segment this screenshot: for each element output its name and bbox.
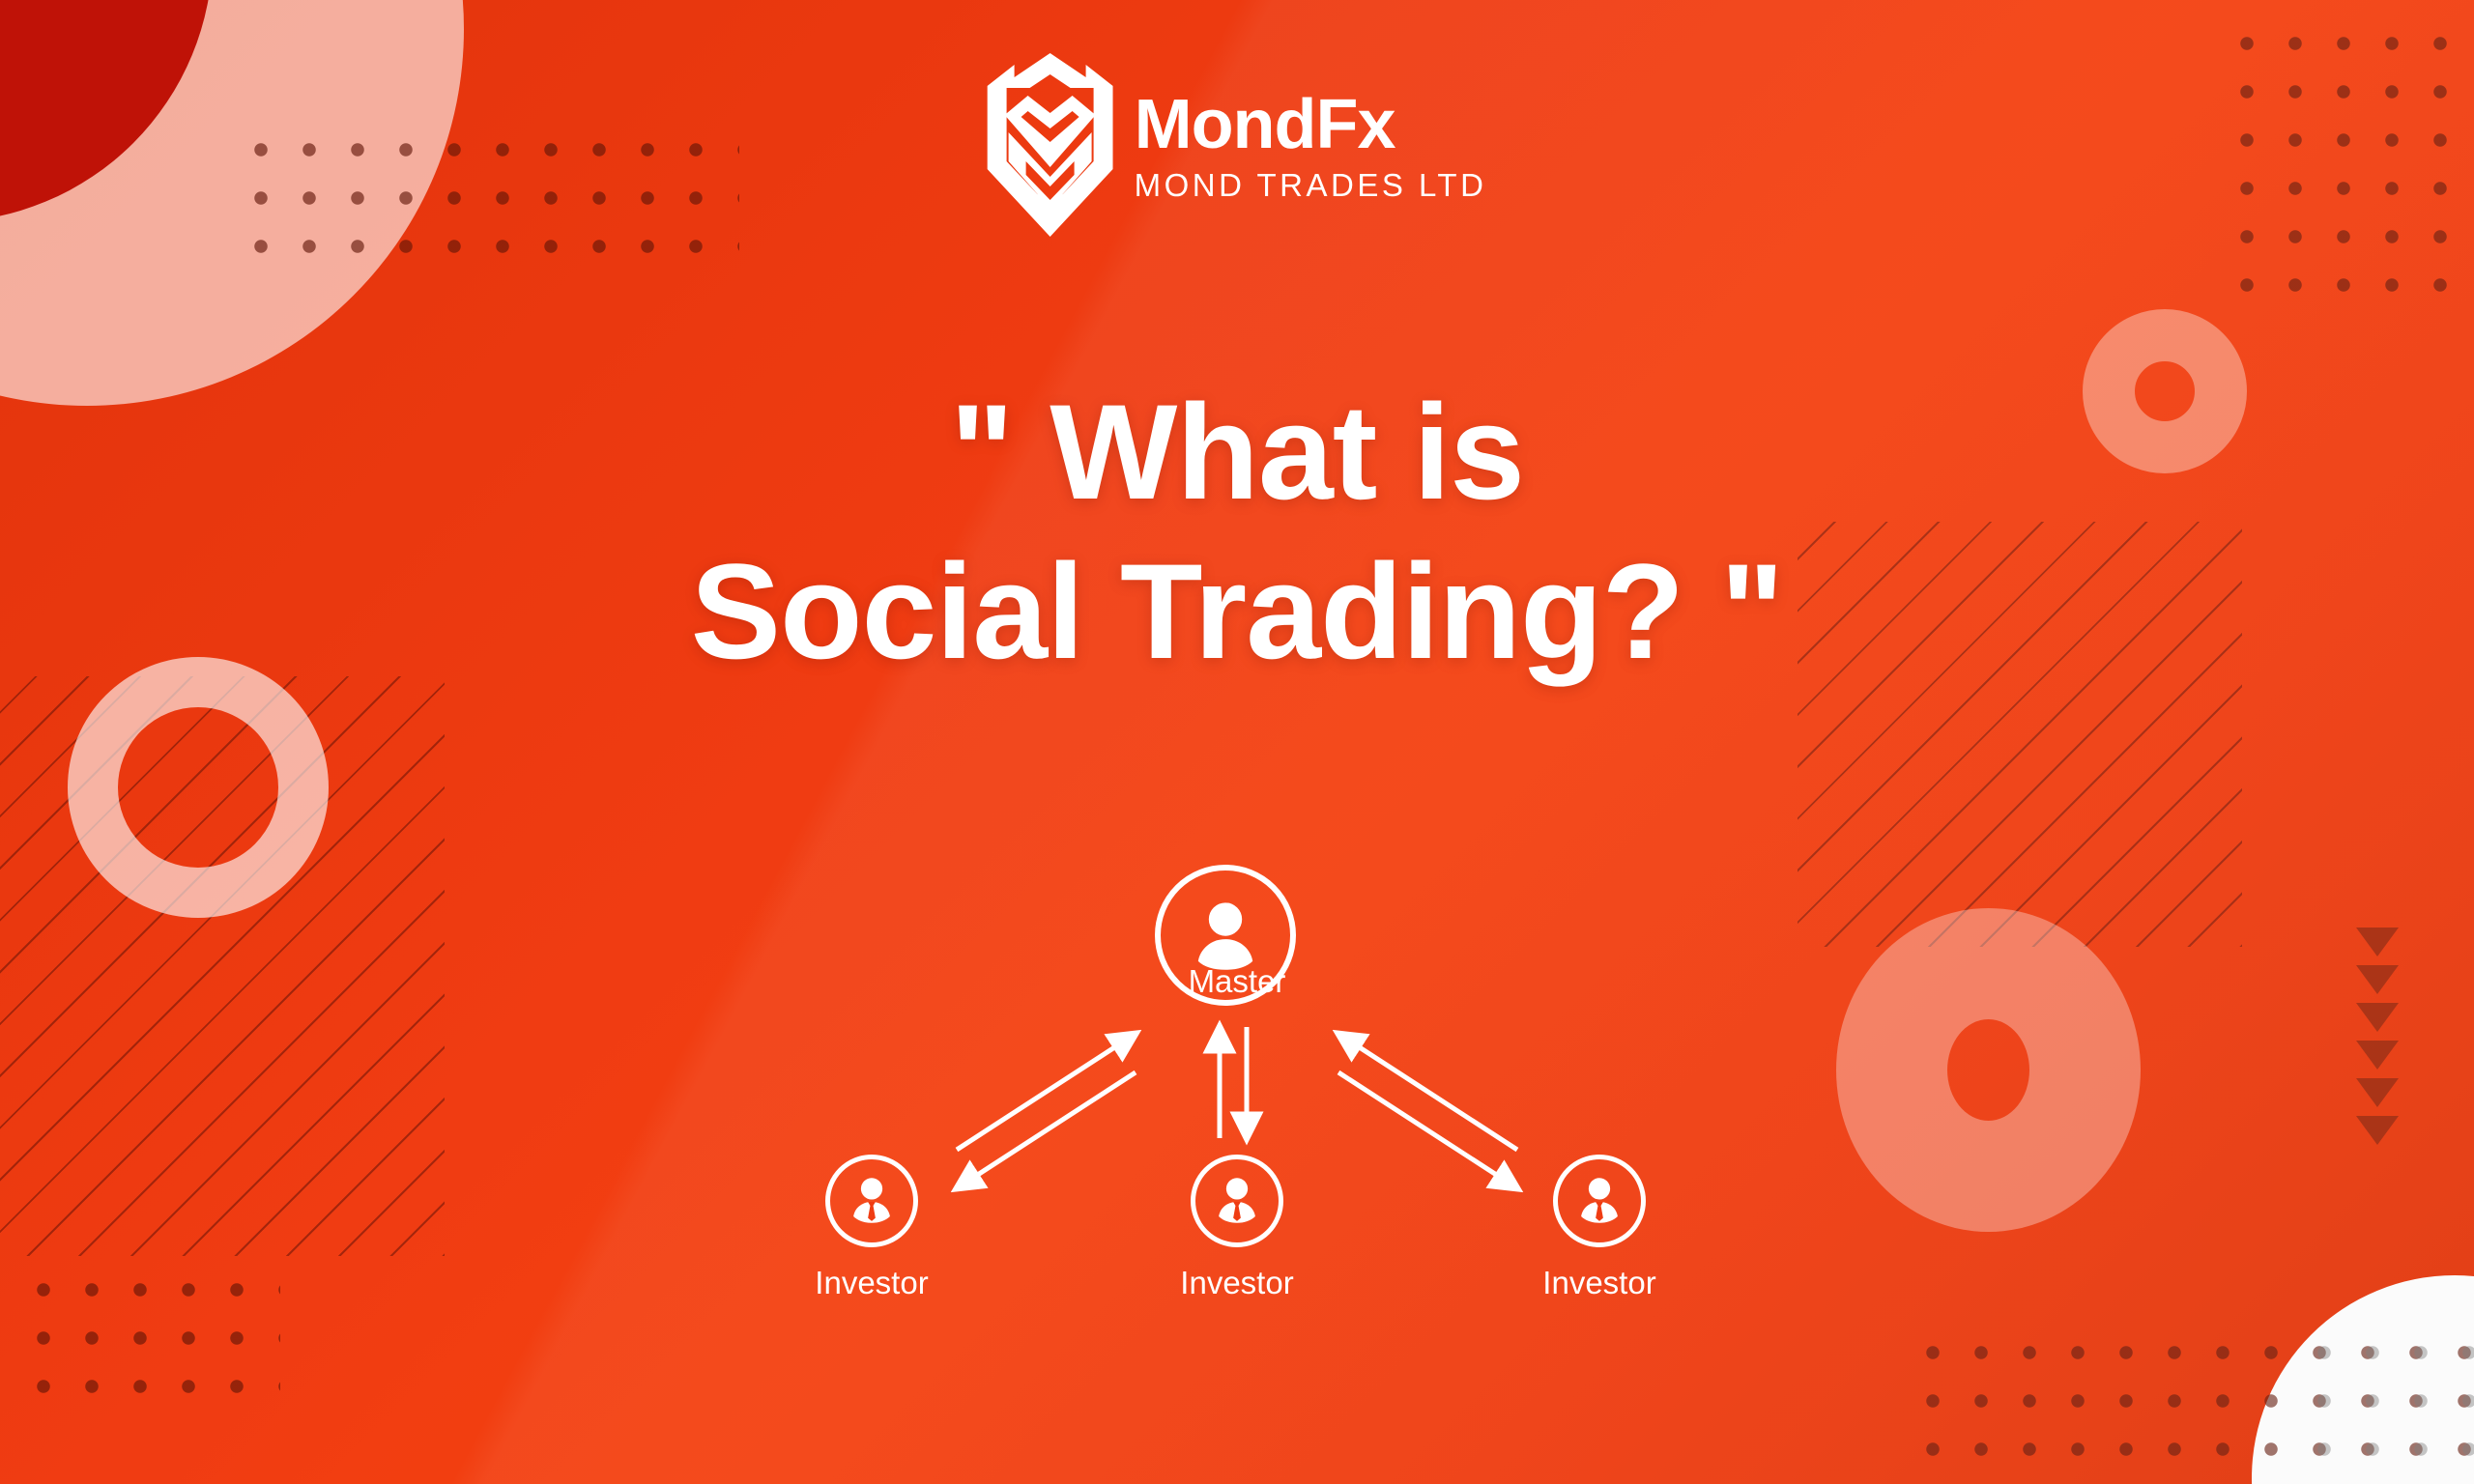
triangle-down-icon — [2356, 1116, 2399, 1145]
diagram-node-master[interactable]: Master — [1155, 865, 1319, 1006]
connector-master-center-investor — [1220, 1027, 1247, 1138]
dot-grid-bottom-right — [1909, 1328, 2474, 1483]
investor-avatar-circle — [1191, 1155, 1283, 1247]
mondfx-shield-logo-icon — [988, 53, 1113, 237]
left-diagonal-hatch-decoration — [0, 676, 445, 1256]
dot-grid-bottom-left — [19, 1266, 280, 1420]
triangle-down-icon — [2356, 1078, 2399, 1107]
diagram-node-investor-1[interactable]: Investor — [775, 1155, 968, 1301]
bottom-right-white-circle-decoration — [2252, 1275, 2474, 1484]
headline-line-2: Social Trading? " — [0, 531, 2474, 691]
connector-master-left-investor — [957, 1034, 1136, 1188]
triangle-down-icon — [2356, 965, 2399, 994]
left-pale-ring-decoration — [68, 657, 329, 918]
connector-master-right-investor — [1338, 1034, 1517, 1188]
investor-1-label: Investor — [775, 1265, 968, 1301]
triangle-down-icon — [2356, 1041, 2399, 1070]
investor-avatar-circle — [1553, 1155, 1646, 1247]
social-trading-diagram: Master Investor — [763, 865, 1711, 1425]
investor-2-label: Investor — [1140, 1265, 1334, 1301]
brand-logo: MondFx MOND TRADES LTD — [988, 53, 1487, 237]
triangle-down-icon — [2356, 1003, 2399, 1032]
headline-line-1: " What is — [0, 372, 2474, 531]
poster-canvas: MondFx MOND TRADES LTD " What is Social … — [0, 0, 2474, 1484]
bottom-right-large-ring-decoration — [1836, 908, 2141, 1232]
diagram-node-investor-2[interactable]: Investor — [1140, 1155, 1334, 1301]
master-label: Master — [1189, 963, 1286, 1000]
user-tie-icon — [1569, 1171, 1629, 1231]
user-tie-icon — [1207, 1171, 1267, 1231]
top-left-dark-circle-decoration — [0, 0, 213, 222]
user-tie-icon — [842, 1171, 902, 1231]
brand-subtitle: MOND TRADES LTD — [1135, 169, 1487, 201]
dot-grid-top-right — [2223, 19, 2455, 319]
investor-3-label: Investor — [1503, 1265, 1696, 1301]
page-title: " What is Social Trading? " — [0, 372, 2474, 691]
dot-grid-on-white-circle — [2300, 1328, 2474, 1483]
diagram-node-investor-3[interactable]: Investor — [1503, 1155, 1696, 1301]
brand-name: MondFx — [1135, 90, 1487, 159]
top-left-pale-ring-decoration — [0, 0, 464, 406]
dot-grid-top-left — [237, 126, 739, 280]
brand-text: MondFx MOND TRADES LTD — [1135, 90, 1487, 201]
triangle-down-icon — [2356, 927, 2399, 956]
investor-avatar-circle — [825, 1155, 918, 1247]
triangle-column-decoration — [2356, 927, 2414, 1154]
